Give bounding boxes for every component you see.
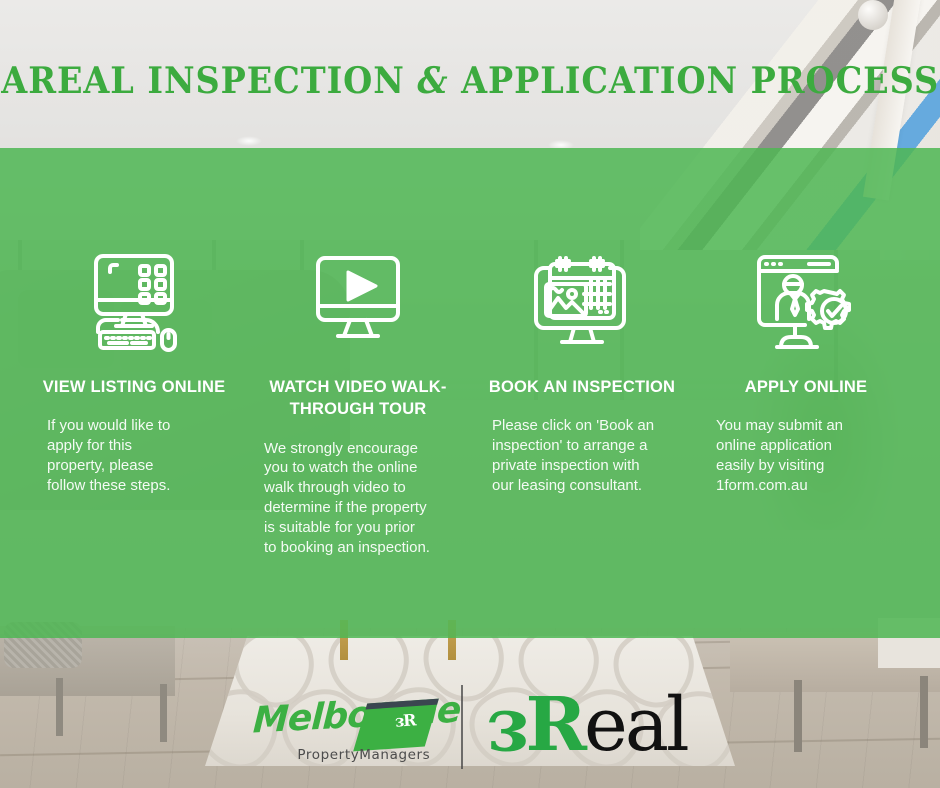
- step-body: If you would like to apply for this prop…: [25, 416, 243, 496]
- step-body: You may submit an online application eas…: [700, 416, 912, 496]
- monitor-play-video-icon: [306, 250, 410, 354]
- footer-logos: Melbourne ᴈR PropertyManagers ᴈReal: [0, 638, 940, 788]
- step-card-apply-online: APPLY ONLINE You may submit an online ap…: [708, 148, 904, 638]
- step-card-view-listing-online: VIEW LISTING ONLINE If you would like to…: [36, 148, 232, 638]
- monitor-calendar-photo-icon: [528, 250, 636, 354]
- steps-row: VIEW LISTING ONLINE If you would like to…: [0, 148, 940, 638]
- melbourne-logo-subtitle: PropertyManagers: [297, 747, 430, 763]
- step-card-watch-video-walkthrough: WATCH VIDEO WALK- THROUGH TOUR We strong…: [260, 148, 456, 638]
- header: Areal Inspection & Application Process: [0, 0, 940, 148]
- logo-row: Melbourne ᴈR PropertyManagers ᴈReal: [253, 685, 686, 769]
- logo-divider: [461, 685, 463, 769]
- step-body: Please click on 'Book an inspection' to …: [476, 416, 688, 496]
- melbourne-roof-monogram: ᴈR: [395, 710, 416, 730]
- step-title: BOOK AN INSPECTION: [484, 376, 680, 398]
- desktop-monitor-keyboard-mouse-icon: [82, 250, 186, 354]
- step-title: VIEW LISTING ONLINE: [36, 376, 232, 398]
- step-card-book-an-inspection: BOOK AN INSPECTION Please click on 'Book…: [484, 148, 680, 638]
- page-title-ampersand: &: [417, 60, 448, 102]
- page-title-part2: Application Process: [448, 60, 939, 102]
- melbourne-property-managers-logo: Melbourne ᴈR PropertyManagers: [253, 689, 433, 765]
- areal-logo-green-part: ᴈR: [491, 688, 584, 762]
- step-title: WATCH VIDEO WALK- THROUGH TOUR: [260, 376, 456, 421]
- monitor-person-gear-check-icon: [751, 250, 861, 354]
- areal-logo: ᴈReal: [491, 688, 687, 762]
- page-title: Areal Inspection & Application Process: [1, 60, 939, 102]
- step-body: We strongly encourage you to watch the o…: [256, 439, 460, 559]
- page-title-part1: Areal Inspection: [1, 60, 417, 102]
- infographic-poster: Areal Inspection & Application Process: [0, 0, 940, 788]
- areal-logo-black-part: eal: [584, 688, 687, 762]
- step-title: APPLY ONLINE: [708, 376, 904, 398]
